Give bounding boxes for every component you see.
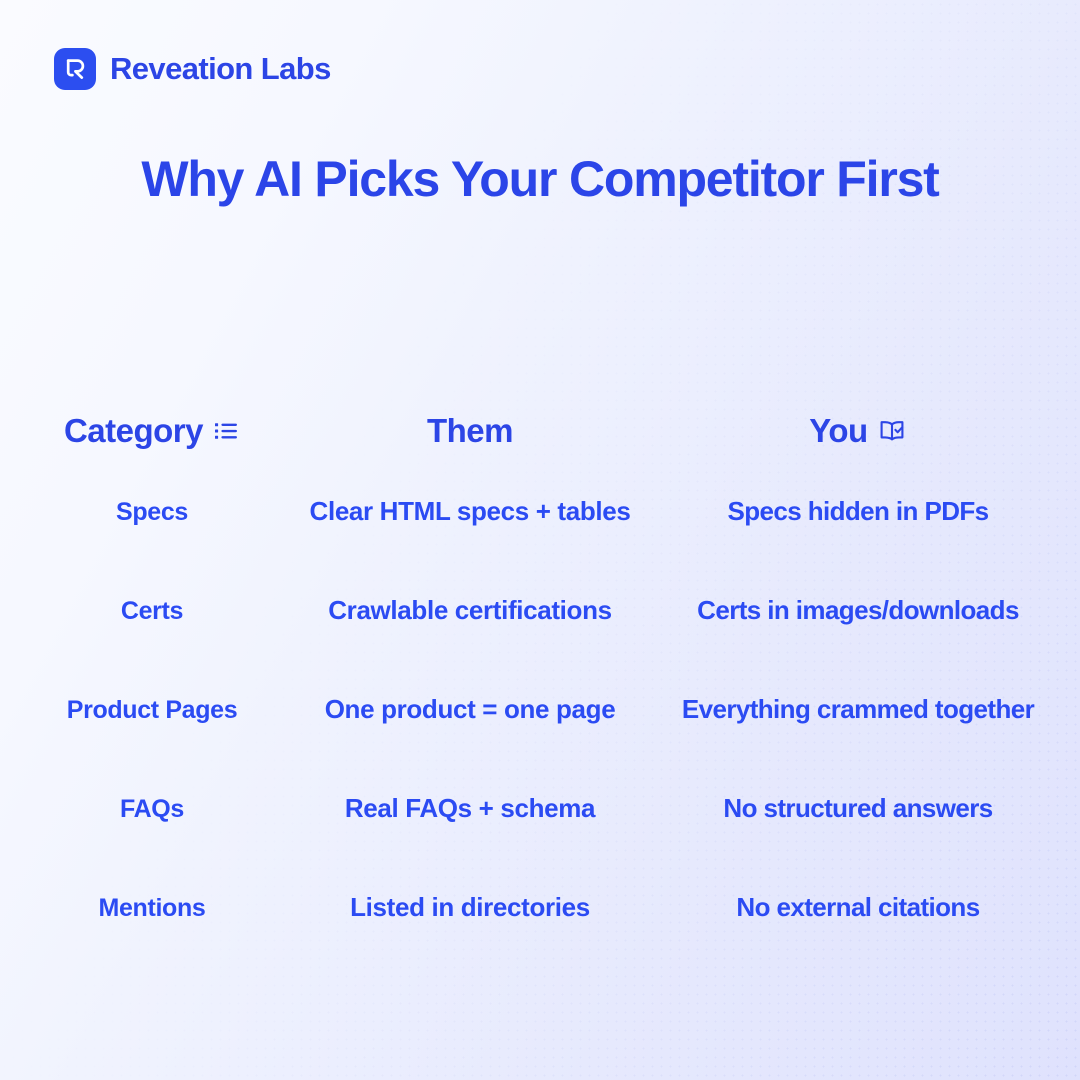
page-title: Why AI Picks Your Competitor First xyxy=(0,151,1080,207)
table-row: Specs Clear HTML specs + tables Specs hi… xyxy=(14,462,1066,561)
column-header-them-label: Them xyxy=(427,412,513,450)
column-header-you-label: You xyxy=(809,412,867,450)
brand-lockup: Reveation Labs xyxy=(54,48,331,90)
column-header-you: You xyxy=(650,412,1066,450)
row-category: Mentions xyxy=(14,893,290,923)
table-row: FAQs Real FAQs + schema No structured an… xyxy=(14,759,1066,858)
row-you: No external citations xyxy=(650,892,1066,923)
row-category: Product Pages xyxy=(14,695,290,725)
row-category: Certs xyxy=(14,596,290,626)
comparison-table: Category Them You xyxy=(14,400,1066,957)
column-header-category: Category xyxy=(14,412,290,450)
row-them: Real FAQs + schema xyxy=(290,793,650,824)
table-header-row: Category Them You xyxy=(14,400,1066,462)
row-you: Specs hidden in PDFs xyxy=(650,496,1066,527)
row-them: Clear HTML specs + tables xyxy=(290,496,650,527)
brand-name: Reveation Labs xyxy=(110,51,331,87)
row-you: Certs in images/downloads xyxy=(650,595,1066,626)
table-row: Certs Crawlable certifications Certs in … xyxy=(14,561,1066,660)
column-header-category-label: Category xyxy=(64,412,203,450)
poster-canvas: Reveation Labs Why AI Picks Your Competi… xyxy=(0,0,1080,1080)
row-them: Listed in directories xyxy=(290,892,650,923)
list-icon xyxy=(212,417,240,445)
row-them: Crawlable certifications xyxy=(290,595,650,626)
row-you: No structured answers xyxy=(650,793,1066,824)
table-row: Product Pages One product = one page Eve… xyxy=(14,660,1066,759)
table-row: Mentions Listed in directories No extern… xyxy=(14,858,1066,957)
row-category: Specs xyxy=(14,497,290,527)
row-you: Everything crammed together xyxy=(650,694,1066,725)
column-header-them: Them xyxy=(290,412,650,450)
row-category: FAQs xyxy=(14,794,290,824)
row-them: One product = one page xyxy=(290,694,650,725)
reveation-r-logo-icon xyxy=(54,48,96,90)
book-check-icon xyxy=(877,416,907,446)
